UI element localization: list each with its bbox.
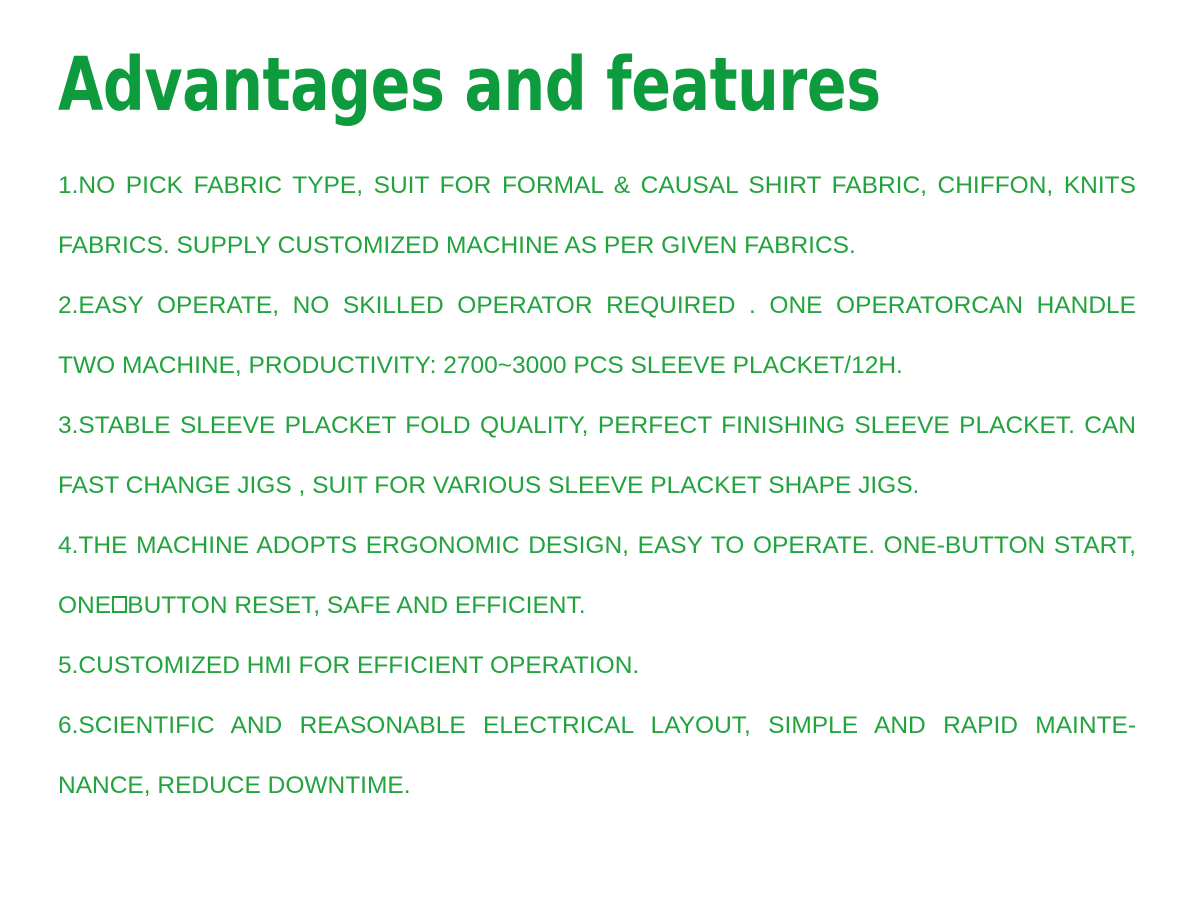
- missing-glyph-box-icon: [112, 596, 127, 614]
- feature-item-4-text-after: BUTTON RESET, SAFE AND EFFICIENT.: [127, 592, 585, 619]
- feature-item-3: 3.STABLE SLEEVE PLACKET FOLD QUALITY, PE…: [58, 396, 1136, 516]
- feature-item-5: 5.CUSTOMIZED HMI FOR EFFICIENT OPERATION…: [58, 636, 1136, 696]
- feature-item-2: 2.EASY OPERATE, NO SKILLED OPERATOR REQU…: [58, 276, 1136, 396]
- feature-item-4: 4.THE MACHINE ADOPTS ERGONOMIC DESIGN, E…: [58, 516, 1136, 636]
- feature-item-6: 6.SCIENTIFIC AND REASONABLE ELECTRICAL L…: [58, 696, 1136, 816]
- features-list: 1.NO PICK FABRIC TYPE, SUIT FOR FORMAL &…: [58, 156, 1136, 816]
- page-title: Advantages and features: [58, 48, 881, 122]
- feature-item-1: 1.NO PICK FABRIC TYPE, SUIT FOR FORMAL &…: [58, 156, 1136, 276]
- slide-root: Advantages and features 1.NO PICK FABRIC…: [0, 0, 1200, 900]
